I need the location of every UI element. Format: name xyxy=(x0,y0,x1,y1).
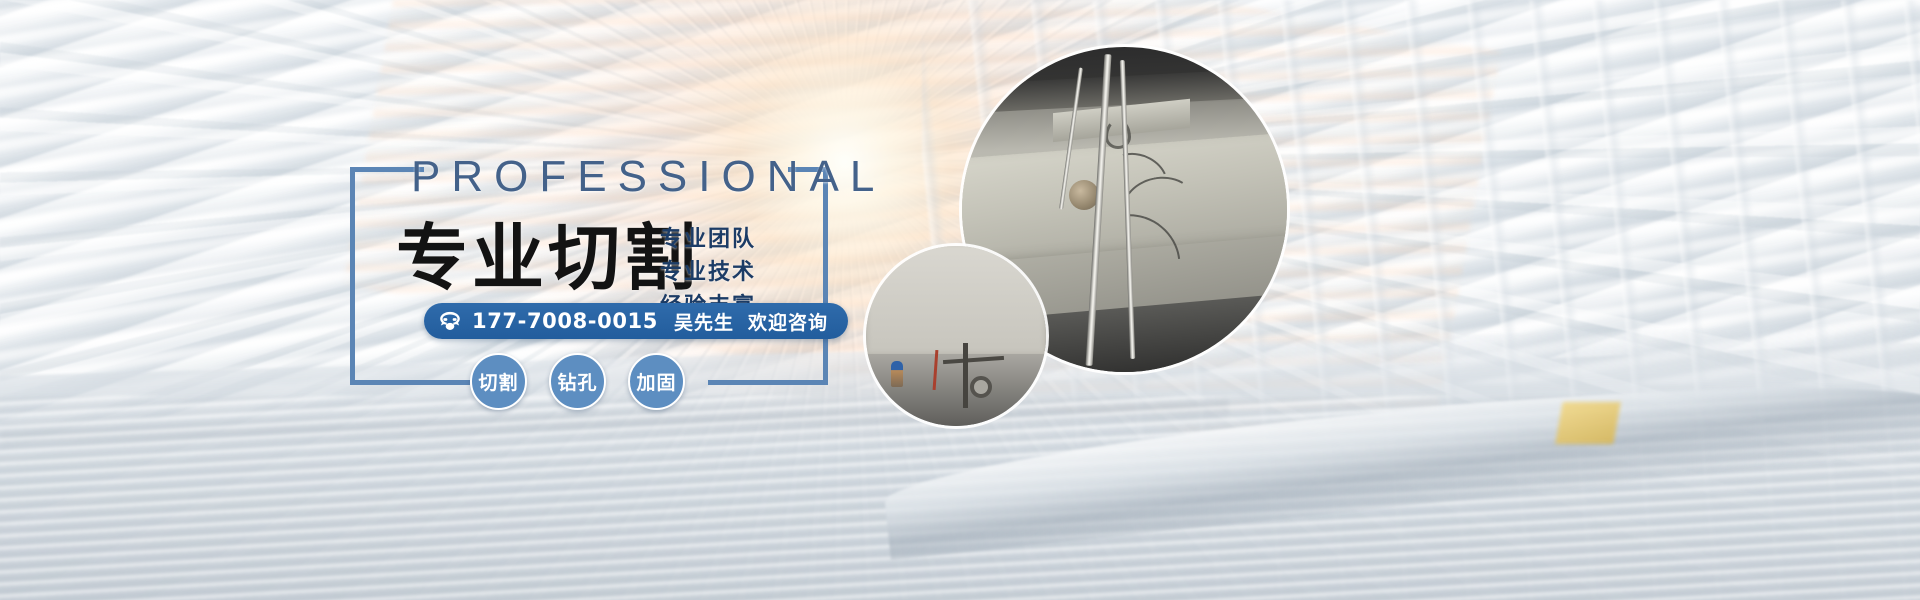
wall-saw-worker-photo xyxy=(866,246,1046,426)
selling-point-1: 专业团队 xyxy=(660,222,756,255)
photo-saw-mast xyxy=(963,343,968,408)
photo-worker xyxy=(891,361,903,387)
service-circle-group: 切割 钻孔 加固 xyxy=(470,353,685,410)
photo-concrete-wall xyxy=(866,246,1046,358)
yellow-barrier xyxy=(1555,402,1620,444)
service-circle-drilling[interactable]: 钻孔 xyxy=(549,353,606,410)
contact-phone-bar[interactable]: 177-7008-0015 吴先生 欢迎咨询 xyxy=(424,303,848,339)
frame-bottom-left-segment xyxy=(350,380,470,385)
frame-left-segment xyxy=(350,167,355,385)
selling-point-2: 专业技术 xyxy=(660,255,756,288)
promo-banner: PROFESSIONAL 专业切割 专业团队 专业技术 经验丰富 177-700… xyxy=(0,0,1920,600)
service-circle-reinforcing[interactable]: 加固 xyxy=(628,353,685,410)
contact-name: 吴先生 xyxy=(674,308,734,335)
photo-saw-wheel xyxy=(970,376,992,398)
eyebrow-text: PROFESSIONAL xyxy=(411,152,885,202)
service-circle-cutting[interactable]: 切割 xyxy=(470,353,527,410)
contact-cta: 欢迎咨询 xyxy=(748,308,828,335)
frame-bottom-right-segment xyxy=(708,380,828,385)
page-title: 专业切割 xyxy=(396,222,700,294)
phone-number: 177-7008-0015 xyxy=(472,309,658,333)
telephone-icon xyxy=(438,310,462,332)
